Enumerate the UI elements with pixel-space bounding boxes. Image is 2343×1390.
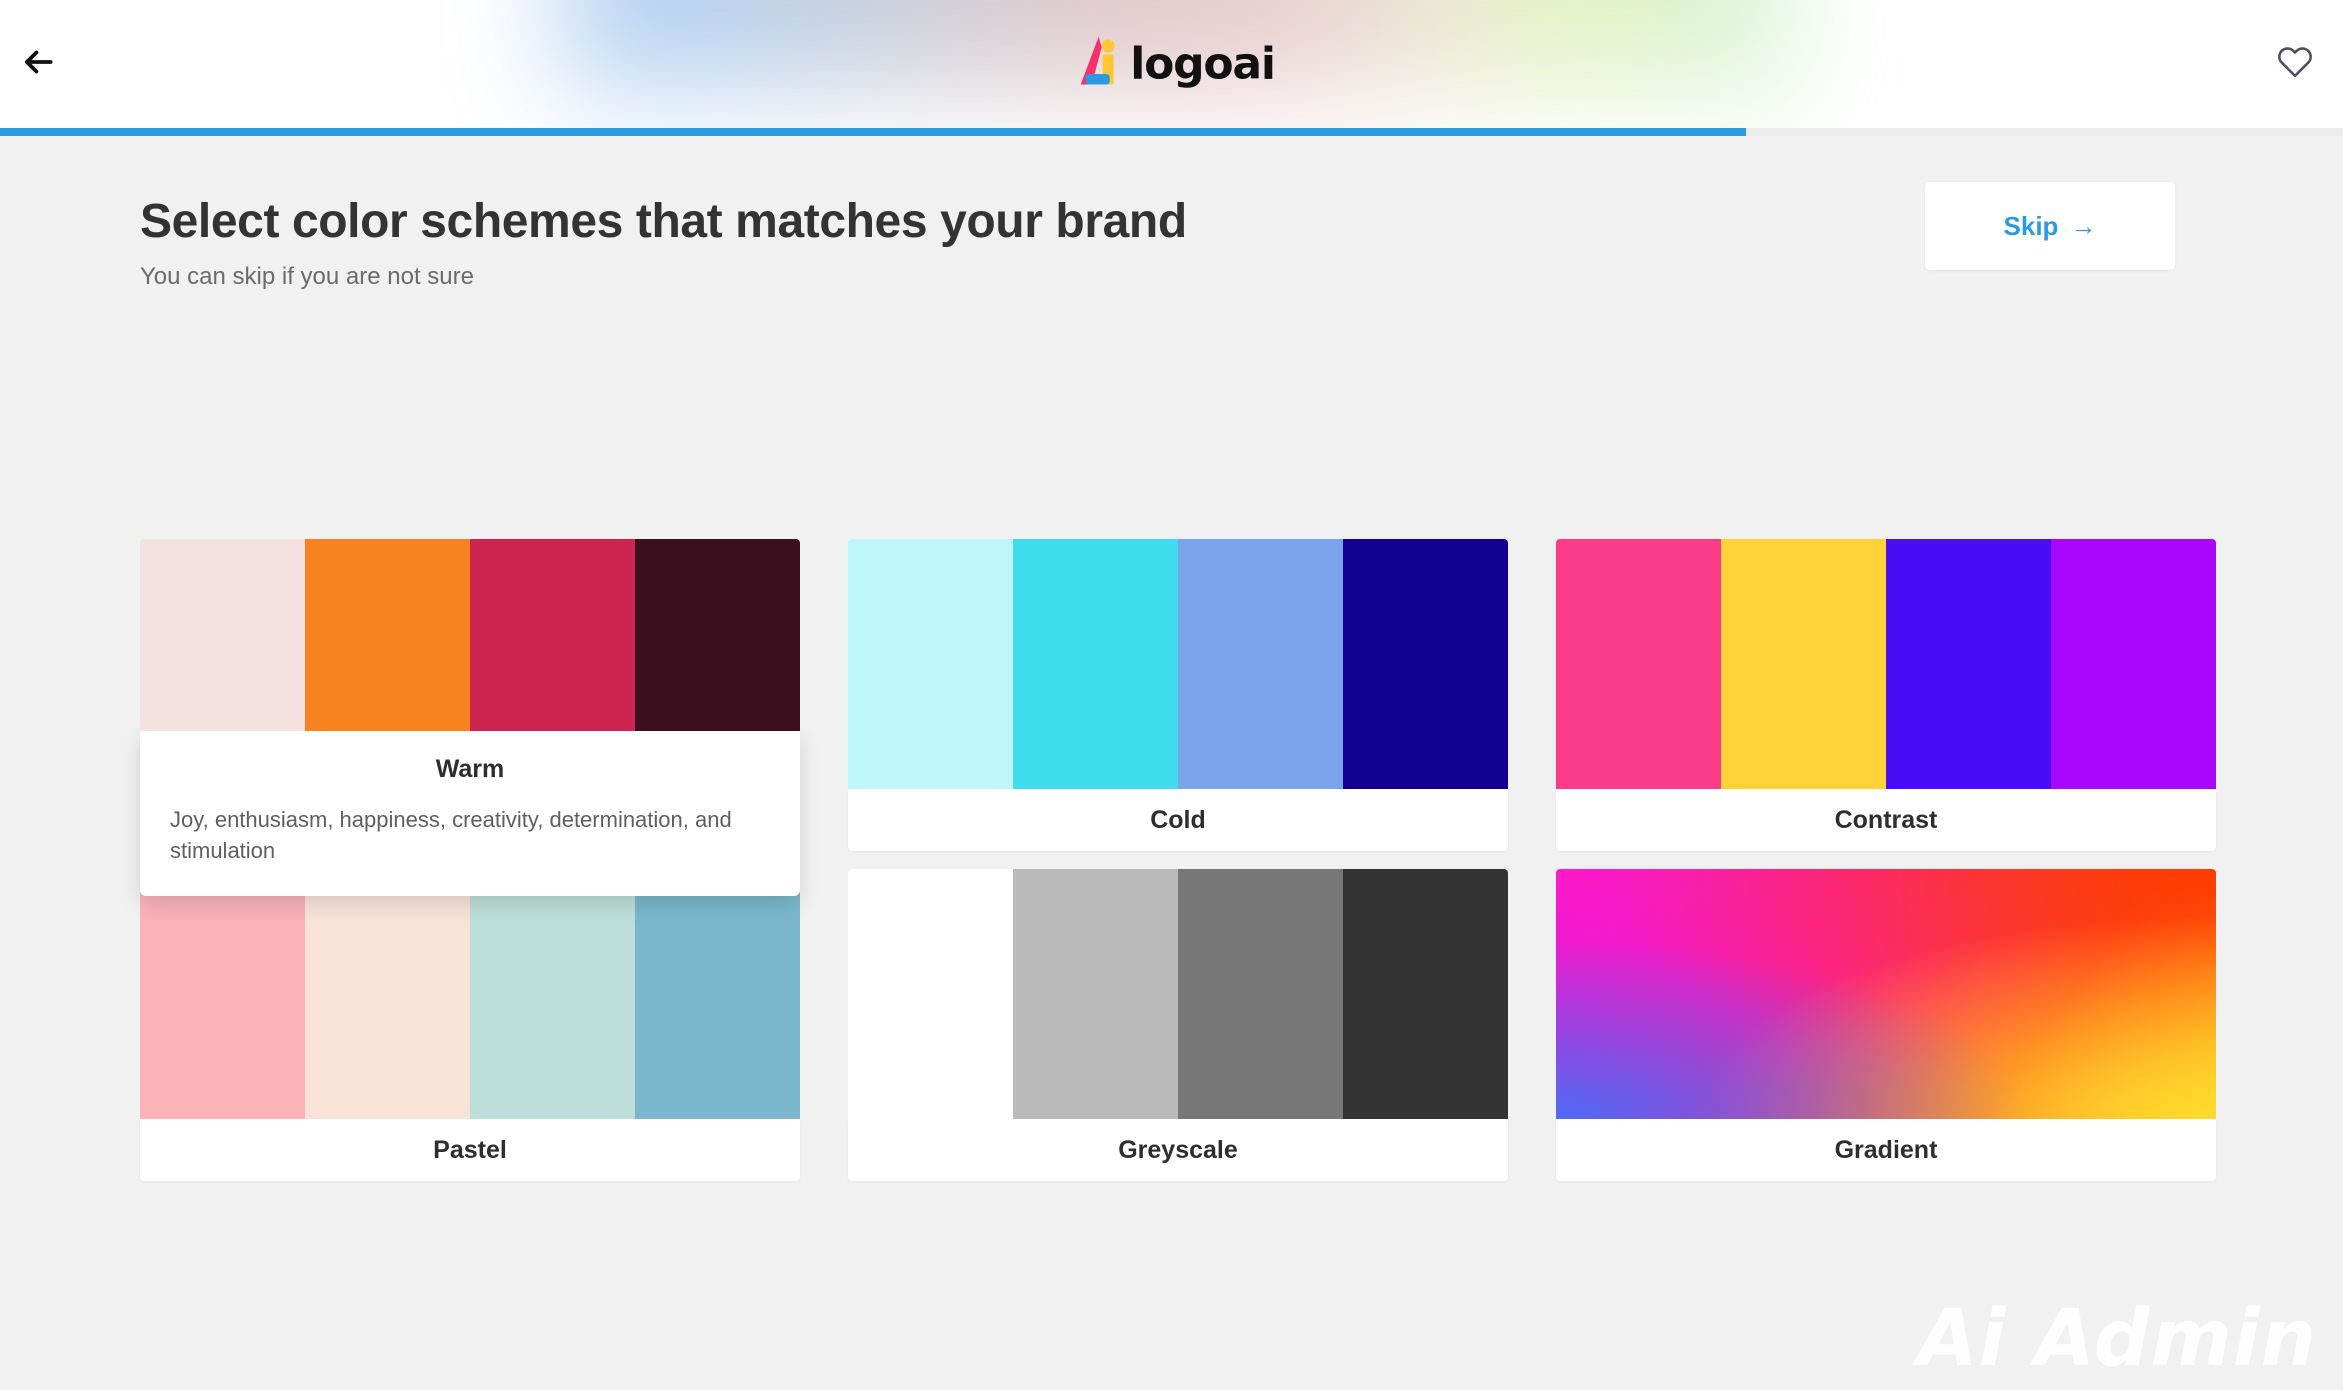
scheme-card-label-bar: Gradient bbox=[1556, 1119, 2216, 1181]
skip-button[interactable]: Skip → bbox=[1925, 182, 2175, 270]
app-header: logoai bbox=[0, 0, 2343, 128]
scheme-card-body: WarmJoy, enthusiasm, happiness, creativi… bbox=[140, 731, 800, 896]
back-button[interactable] bbox=[10, 36, 66, 92]
scheme-swatch-row bbox=[848, 539, 1508, 789]
color-swatch bbox=[305, 539, 470, 731]
scheme-gradient-preview bbox=[1556, 869, 2216, 1119]
brand-logo[interactable]: logoai bbox=[1068, 34, 1275, 95]
color-swatch bbox=[470, 869, 635, 1119]
title-row: Select color schemes that matches your b… bbox=[140, 136, 2175, 296]
scheme-swatch-row bbox=[848, 869, 1508, 1119]
scheme-card-warm[interactable]: WarmJoy, enthusiasm, happiness, creativi… bbox=[140, 539, 800, 831]
scheme-card-label-bar: Contrast bbox=[1556, 789, 2216, 851]
scheme-card-label-bar: Cold bbox=[848, 789, 1508, 851]
color-swatch bbox=[848, 539, 1013, 789]
scheme-card-description: Joy, enthusiasm, happiness, creativity, … bbox=[170, 804, 770, 866]
color-swatch bbox=[305, 869, 470, 1119]
scheme-card-gradient[interactable]: Gradient bbox=[1556, 869, 2216, 1161]
scheme-card-label-bar: Pastel bbox=[140, 1119, 800, 1181]
color-swatch bbox=[1343, 539, 1508, 789]
scheme-card-label-bar: Greyscale bbox=[848, 1119, 1508, 1181]
color-swatch bbox=[1178, 539, 1343, 789]
skip-button-label: Skip bbox=[2004, 211, 2059, 242]
scheme-card-contrast[interactable]: Contrast bbox=[1556, 539, 2216, 831]
color-swatch bbox=[1556, 539, 1721, 789]
scheme-card-greyscale[interactable]: Greyscale bbox=[848, 869, 1508, 1161]
color-swatch bbox=[635, 539, 800, 731]
color-swatch bbox=[1886, 539, 2051, 789]
heart-icon bbox=[2277, 44, 2313, 85]
brand-name: logoai bbox=[1130, 42, 1275, 86]
color-swatch bbox=[1343, 869, 1508, 1119]
progress-bar-fill bbox=[0, 128, 1746, 136]
app-root: logoai Select color schemes that matches… bbox=[0, 0, 2343, 1390]
scheme-swatch-row bbox=[140, 539, 800, 731]
arrow-right-icon: → bbox=[2070, 213, 2096, 239]
color-swatch bbox=[470, 539, 635, 731]
page-header-section: Select color schemes that matches your b… bbox=[140, 136, 2175, 296]
page-subtitle: You can skip if you are not sure bbox=[140, 263, 2175, 291]
main-content: Select color schemes that matches your b… bbox=[0, 136, 2343, 1390]
color-swatch bbox=[1013, 869, 1178, 1119]
color-swatch bbox=[2051, 539, 2216, 789]
scheme-card-title: Gradient bbox=[1835, 1136, 1938, 1165]
scheme-card-title: Greyscale bbox=[1118, 1136, 1238, 1165]
scheme-card-title: Cold bbox=[1150, 806, 1206, 835]
color-swatch bbox=[1178, 869, 1343, 1119]
color-swatch bbox=[1721, 539, 1886, 789]
color-swatch bbox=[635, 869, 800, 1119]
color-swatch bbox=[140, 539, 305, 731]
scheme-card-title: Warm bbox=[170, 755, 770, 784]
scheme-card-title: Contrast bbox=[1835, 806, 1938, 835]
color-swatch bbox=[1013, 539, 1178, 789]
color-swatch bbox=[848, 869, 1013, 1119]
watermark: Ai Admin bbox=[1917, 1294, 2317, 1384]
favorite-button[interactable] bbox=[2267, 36, 2323, 92]
arrow-left-icon bbox=[19, 43, 57, 86]
scheme-card-title: Pastel bbox=[433, 1136, 507, 1165]
progress-bar-track bbox=[0, 128, 2343, 136]
color-scheme-grid: WarmJoy, enthusiasm, happiness, creativi… bbox=[140, 539, 2195, 1161]
color-swatch bbox=[140, 869, 305, 1119]
scheme-card-cold[interactable]: Cold bbox=[848, 539, 1508, 831]
scheme-card-pastel[interactable]: Pastel bbox=[140, 869, 800, 1161]
logoai-a-mark-icon bbox=[1068, 34, 1126, 95]
scheme-swatch-row bbox=[140, 869, 800, 1119]
page-title: Select color schemes that matches your b… bbox=[140, 194, 2175, 249]
scheme-swatch-row bbox=[1556, 539, 2216, 789]
